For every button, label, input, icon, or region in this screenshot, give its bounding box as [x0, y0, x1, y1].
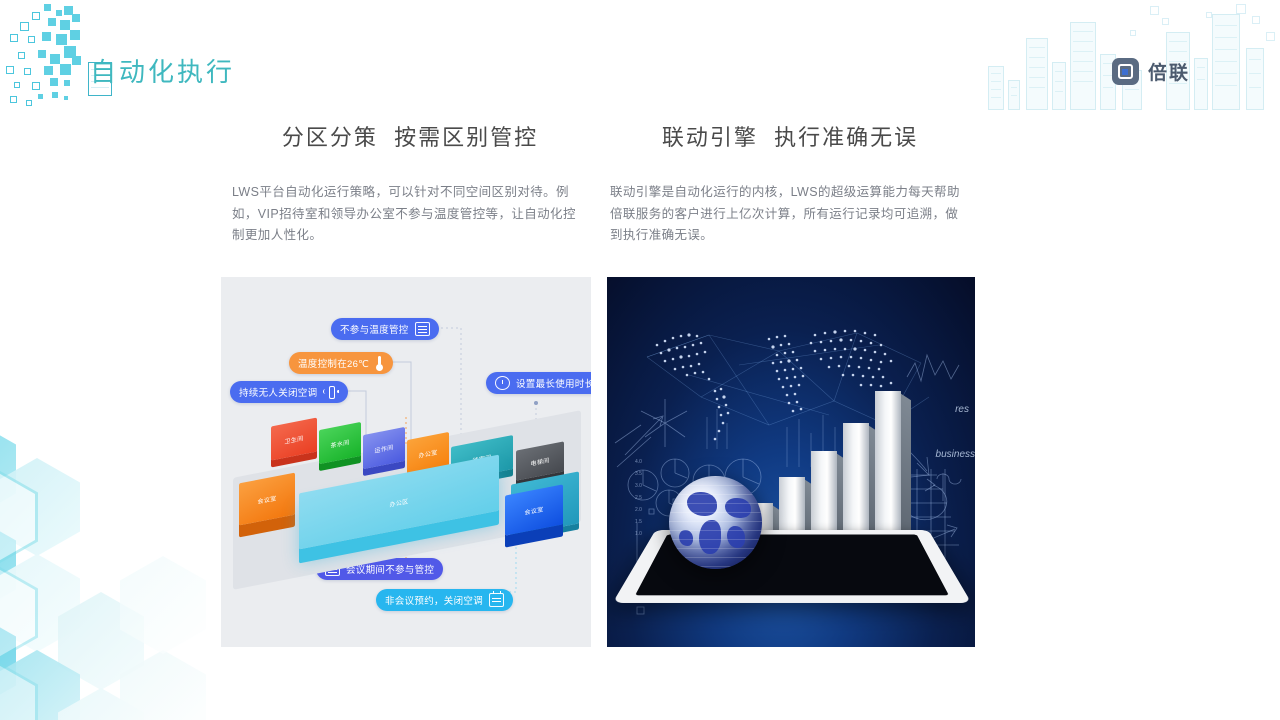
column-body-text: LWS平台自动化运行策略，可以针对不同空间区别对待。例如，VIP招待室和领导办公… — [220, 182, 600, 247]
axis-tick: 1.5 — [635, 519, 642, 525]
room-label: 茶水间 — [331, 437, 350, 450]
tag-auto-off-when-vacant[interactable]: 持续无人关闭空调 — [230, 381, 348, 403]
room-block[interactable]: 卫生间 — [271, 418, 317, 461]
tag-label: 设置最长使用时长 — [516, 376, 591, 390]
list-panel-icon — [415, 322, 430, 336]
room-label: 电梯间 — [531, 455, 550, 468]
tag-max-usage-duration[interactable]: 设置最长使用时长 — [486, 372, 591, 394]
tag-label: 持续无人关闭空调 — [239, 385, 317, 399]
column-zoning-policy: 分区分策 按需区别管控 LWS平台自动化运行策略，可以针对不同空间区别对待。例如… — [220, 120, 600, 247]
isometric-floor-plan: 卫生间 茶水间 运作间 办公室 待客间 电梯间 餐厅 会议室 — [231, 412, 583, 612]
tag-no-temperature-control[interactable]: 不参与温度管控 — [331, 318, 439, 340]
room-label: 运作间 — [375, 442, 394, 455]
tag-label: 温度控制在26℃ — [298, 356, 369, 370]
axis-tick: 3.0 — [635, 483, 642, 489]
sketch-label-res: res — [955, 404, 969, 415]
page-title: 自动化执行 — [90, 52, 235, 89]
column-linkage-engine: 联动引擎 执行准确无误 联动引擎是自动化运行的内核，LWS的超级运算能力每天帮助… — [600, 120, 980, 247]
sketch-label-business: business — [936, 449, 975, 460]
axis-tick: 4.0 — [635, 459, 642, 465]
axis-tick: 1.0 — [635, 531, 642, 537]
city-skyline-decoration — [980, 0, 1280, 110]
axis-tick: 3.5 — [635, 471, 642, 477]
column-heading: 分区分策 按需区别管控 — [220, 120, 600, 152]
room-label: 办公区 — [390, 496, 409, 509]
brand-name: 倍联 — [1148, 58, 1190, 85]
bar-chart-column — [875, 391, 901, 551]
zoning-diagram-panel: 不参与温度管控 温度控制在26℃ 持续无人关闭空调 设置最长使用时长 会议期间不… — [221, 277, 591, 647]
data-illustration-panel: res business 4.0 3.5 3.0 2.5 2.0 1.5 1.0 — [607, 277, 975, 647]
brand-logo: 倍联 — [1112, 58, 1190, 85]
room-label: 会议室 — [258, 493, 277, 506]
tag-temperature-26[interactable]: 温度控制在26℃ — [289, 352, 393, 374]
axis-tick: 2.0 — [635, 507, 642, 513]
rounded-square-logo-icon — [1112, 58, 1139, 85]
column-heading: 联动引擎 执行准确无误 — [600, 120, 980, 152]
room-label: 会议室 — [525, 504, 544, 517]
room-label: 卫生间 — [285, 433, 304, 446]
clock-icon — [495, 376, 510, 390]
tag-label: 不参与温度管控 — [340, 322, 409, 336]
column-body-text: 联动引擎是自动化运行的内核，LWS的超级运算能力每天帮助倍联服务的客户进行上亿次… — [600, 182, 980, 247]
thermometer-icon — [375, 356, 384, 370]
room-label: 办公室 — [419, 447, 438, 460]
globe-icon — [669, 476, 762, 569]
motion-sensor-icon — [323, 385, 339, 399]
tablet-icon — [613, 530, 972, 603]
axis-tick: 2.5 — [635, 495, 642, 501]
